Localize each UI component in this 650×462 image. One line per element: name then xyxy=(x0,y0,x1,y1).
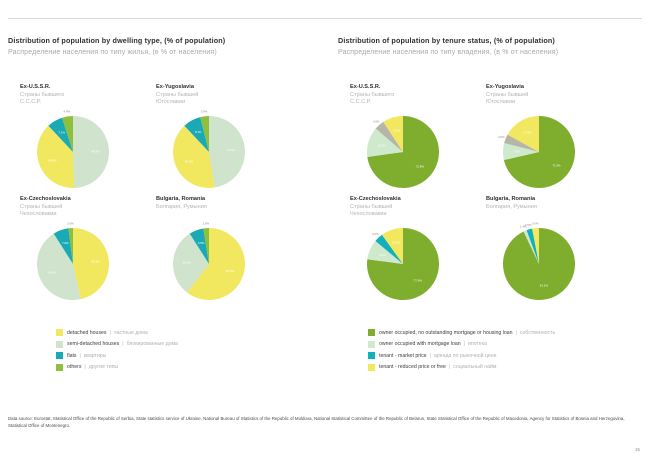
pie-slice-label: 10.0% xyxy=(392,241,401,245)
pie-chart-title: Ex-Czechoslovakia xyxy=(350,196,500,204)
legend-label-en: flats xyxy=(67,353,77,359)
pie-chart: 71.5%7.6%4.0%17.0% xyxy=(494,107,584,197)
pie-slice-label: 71.5% xyxy=(552,164,561,168)
pie-slice-label: 13.5% xyxy=(377,143,386,147)
pie-slice-label: 8.1% xyxy=(195,130,202,134)
legend-label-ru: другие типы xyxy=(89,364,118,370)
legend-dwelling-type: detached houses|частные домаsemi-detache… xyxy=(56,328,318,374)
chart-grid-tenure-status: Ex-U.S.S.R. Страны бывшего С.С.С.Р. 72.8… xyxy=(338,84,648,314)
legend-swatch xyxy=(56,352,63,359)
pie-slice-label: 4.0% xyxy=(372,232,379,236)
legend-label-en: tenant - market price xyxy=(379,353,427,359)
pie-chart-cell: Ex-Yugoslavia Страны бывшей Югославии 47… xyxy=(156,84,306,199)
pie-slice-label: 44.5% xyxy=(48,270,57,274)
legend-swatch xyxy=(56,341,63,348)
data-source-text: Data source: Eurostat, Statistical Offic… xyxy=(8,415,642,429)
pie-chart: 77.5%9.0%4.0%10.0% xyxy=(358,219,448,309)
legend-swatch xyxy=(368,364,375,371)
pie-chart-subtitle-1: Страны бывшей xyxy=(486,92,636,100)
pie-chart-title: Ex-U.S.S.R. xyxy=(350,84,500,92)
legend-separator: | xyxy=(80,353,81,359)
pie-chart-title: Ex-U.S.S.R. xyxy=(20,84,170,92)
pie-slice-label: 40.5% xyxy=(185,160,194,164)
pie-chart-title: Bulgaria, Romania xyxy=(156,196,306,204)
legend-label-ru: квартиры xyxy=(84,353,107,359)
legend-separator: | xyxy=(110,330,111,336)
pie-slice-label: 9.2% xyxy=(393,128,400,132)
legend-label-ru: аренда по рыночной цене xyxy=(434,353,497,359)
legend-swatch xyxy=(368,329,375,336)
pie-chart-subtitle-1: Страны бывшей xyxy=(156,92,306,100)
report-page: Distribution of population by dwelling t… xyxy=(0,0,650,462)
legend-item[interactable]: flats|квартиры xyxy=(56,351,318,360)
pie-slice-label: 49.5% xyxy=(91,149,100,153)
pie-svg: 77.5%9.0%4.0%10.0% xyxy=(358,219,448,309)
chart-grid-dwelling-type: Ex-U.S.S.R. Страны бывшего С.С.С.Р. 49.5… xyxy=(8,84,318,314)
pie-chart-subtitle-2: С.С.С.Р. xyxy=(350,99,500,107)
pie-svg: 49.5%38.5%7.1%4.9% xyxy=(28,107,118,197)
pie-chart-subtitle-1: Болгария, Румыния xyxy=(486,204,636,212)
pie-slice-label: 2.5% xyxy=(525,223,532,227)
pie-chart-subtitle-2: Югославии xyxy=(486,99,636,107)
pie-svg: 91.2%1.4%2.5%3.0% xyxy=(494,219,584,309)
pie-svg: 46.5%44.5%7.0%2.0% xyxy=(28,219,118,309)
pie-chart-title: Bulgaria, Romania xyxy=(486,196,636,204)
footer: Data source: Eurostat, Statistical Offic… xyxy=(8,415,642,429)
pie-chart: 72.8%13.5%4.5%9.2% xyxy=(358,107,448,197)
pie-slice-label: 17.0% xyxy=(524,131,533,135)
pie-slice-label: 3.0% xyxy=(532,221,539,225)
legend-item[interactable]: owner occupied, no outstanding mortgage … xyxy=(368,328,648,337)
pie-chart-subtitle-1: Страны бывшей xyxy=(350,204,500,212)
legend-label-ru: блокированные дома xyxy=(127,341,178,347)
pie-chart: 91.2%1.4%2.5%3.0% xyxy=(494,219,584,309)
pie-slice-label: 4.9% xyxy=(63,110,70,114)
legend-label-en: owner occupied with mortgage loan xyxy=(379,341,461,347)
panel-tenure-status: Distribution of population by tenure sta… xyxy=(338,36,648,381)
legend-label-ru: собственность xyxy=(520,330,555,336)
legend-label-ru: социальный найм xyxy=(453,364,496,370)
legend-separator: | xyxy=(430,353,431,359)
pie-chart-subtitle-2: Югославии xyxy=(156,99,306,107)
pie-chart-subtitle-2: С.С.С.Р. xyxy=(20,99,170,107)
legend-item[interactable]: tenant - market price|аренда по рыночной… xyxy=(368,351,648,360)
pie-slice-label: 72.8% xyxy=(416,164,425,168)
pie-slice-label: 2.5% xyxy=(203,221,210,225)
legend-label-ru: частные дома xyxy=(114,330,148,336)
pie-chart-cell: Ex-Yugoslavia Страны бывшей Югославии 71… xyxy=(486,84,636,199)
pie-slice-label: 38.5% xyxy=(48,158,57,162)
pie-chart: 49.5%38.5%7.1%4.9% xyxy=(28,107,118,197)
pie-slice-label: 6.5% xyxy=(198,241,205,245)
pie-slice-label: 4.0% xyxy=(498,135,505,139)
pie-chart-subtitle-2: Чехословакии xyxy=(20,211,170,219)
legend-swatch xyxy=(368,352,375,359)
legend-label-en: tenant - reduced price or free xyxy=(379,364,446,370)
legend-label-en: owner occupied, no outstanding mortgage … xyxy=(379,330,513,336)
pie-slice-label: 77.5% xyxy=(414,279,423,283)
pie-slice-label: 60.5% xyxy=(226,269,235,273)
legend-label-en: detached houses xyxy=(67,330,107,336)
pie-slice-label: 3.9% xyxy=(201,110,208,114)
pie-slice-label: 7.1% xyxy=(58,131,65,135)
pie-chart-subtitle-1: Страны бывшего xyxy=(20,92,170,100)
pie-slice-label: 46.5% xyxy=(91,259,100,263)
pie-chart-subtitle-1: Страны бывшего xyxy=(350,92,500,100)
pie-slice-label: 7.0% xyxy=(62,241,69,245)
legend-label-en: others xyxy=(67,364,81,370)
panel-dwelling-type: Distribution of population by dwelling t… xyxy=(8,36,318,381)
legend-separator: | xyxy=(122,341,123,347)
legend-swatch xyxy=(56,364,63,371)
pie-chart-cell: Ex-Czechoslovakia Страны бывшей Чехослов… xyxy=(20,196,170,311)
legend-item[interactable]: detached houses|частные дома xyxy=(56,328,318,337)
pie-svg: 47.5%40.5%8.1%3.9% xyxy=(164,107,254,197)
pie-chart: 60.5%30.5%6.5%2.5% xyxy=(164,219,254,309)
pie-svg: 60.5%30.5%6.5%2.5% xyxy=(164,219,254,309)
legend-label-en: semi-detached houses xyxy=(67,341,119,347)
legend-tenure-status: owner occupied, no outstanding mortgage … xyxy=(368,328,648,374)
pie-svg: 71.5%7.6%4.0%17.0% xyxy=(494,107,584,197)
pie-slice-label: 91.2% xyxy=(540,284,549,288)
header-divider xyxy=(8,18,642,19)
pie-chart-cell: Bulgaria, Romania Болгария, Румыния 60.5… xyxy=(156,196,306,311)
pie-slice-label: 30.5% xyxy=(183,261,192,265)
pie-chart-cell: Ex-Czechoslovakia Страны бывшей Чехослов… xyxy=(350,196,500,311)
pie-chart-title: Ex-Czechoslovakia xyxy=(20,196,170,204)
pie-chart-title: Ex-Yugoslavia xyxy=(156,84,306,92)
pie-svg: 72.8%13.5%4.5%9.2% xyxy=(358,107,448,197)
legend-separator: | xyxy=(84,364,85,370)
pie-chart: 46.5%44.5%7.0%2.0% xyxy=(28,219,118,309)
pie-chart-subtitle-1: Страны бывшей xyxy=(20,204,170,212)
pie-chart-subtitle-1: Болгария, Румыния xyxy=(156,204,306,212)
pie-slice-label: 2.0% xyxy=(67,221,74,225)
pie-slice-label: 9.0% xyxy=(379,253,386,257)
pie-slice-label: 7.6% xyxy=(513,149,520,153)
legend-item[interactable]: others|другие типы xyxy=(56,363,318,372)
pie-chart-cell: Ex-U.S.S.R. Страны бывшего С.С.С.Р. 49.5… xyxy=(20,84,170,199)
legend-item[interactable]: owner occupied with mortgage loan|ипотек… xyxy=(368,340,648,349)
legend-separator: | xyxy=(516,330,517,336)
legend-swatch xyxy=(56,329,63,336)
page-number: 15 xyxy=(635,447,640,452)
pie-chart-title: Ex-Yugoslavia xyxy=(486,84,636,92)
panel-subtitle-dwelling-type: Распределение населения по типу жилья, (… xyxy=(8,48,318,57)
legend-separator: | xyxy=(464,341,465,347)
legend-item[interactable]: semi-detached houses|блокированные дома xyxy=(56,340,318,349)
panel-title-tenure-status: Distribution of population by tenure sta… xyxy=(338,36,648,45)
panel-subtitle-tenure-status: Распределение населения по типу владения… xyxy=(338,48,648,57)
legend-label-ru: ипотека xyxy=(468,341,487,347)
pie-chart-cell: Bulgaria, Romania Болгария, Румыния 91.2… xyxy=(486,196,636,311)
legend-item[interactable]: tenant - reduced price or free|социальны… xyxy=(368,363,648,372)
pie-chart: 47.5%40.5%8.1%3.9% xyxy=(164,107,254,197)
pie-slice-label: 47.5% xyxy=(227,148,236,152)
legend-swatch xyxy=(368,341,375,348)
pie-chart-cell: Ex-U.S.S.R. Страны бывшего С.С.С.Р. 72.8… xyxy=(350,84,500,199)
pie-chart-subtitle-2: Чехословакии xyxy=(350,211,500,219)
pie-slice-label: 4.5% xyxy=(373,119,380,123)
panel-title-dwelling-type: Distribution of population by dwelling t… xyxy=(8,36,318,45)
legend-separator: | xyxy=(449,364,450,370)
